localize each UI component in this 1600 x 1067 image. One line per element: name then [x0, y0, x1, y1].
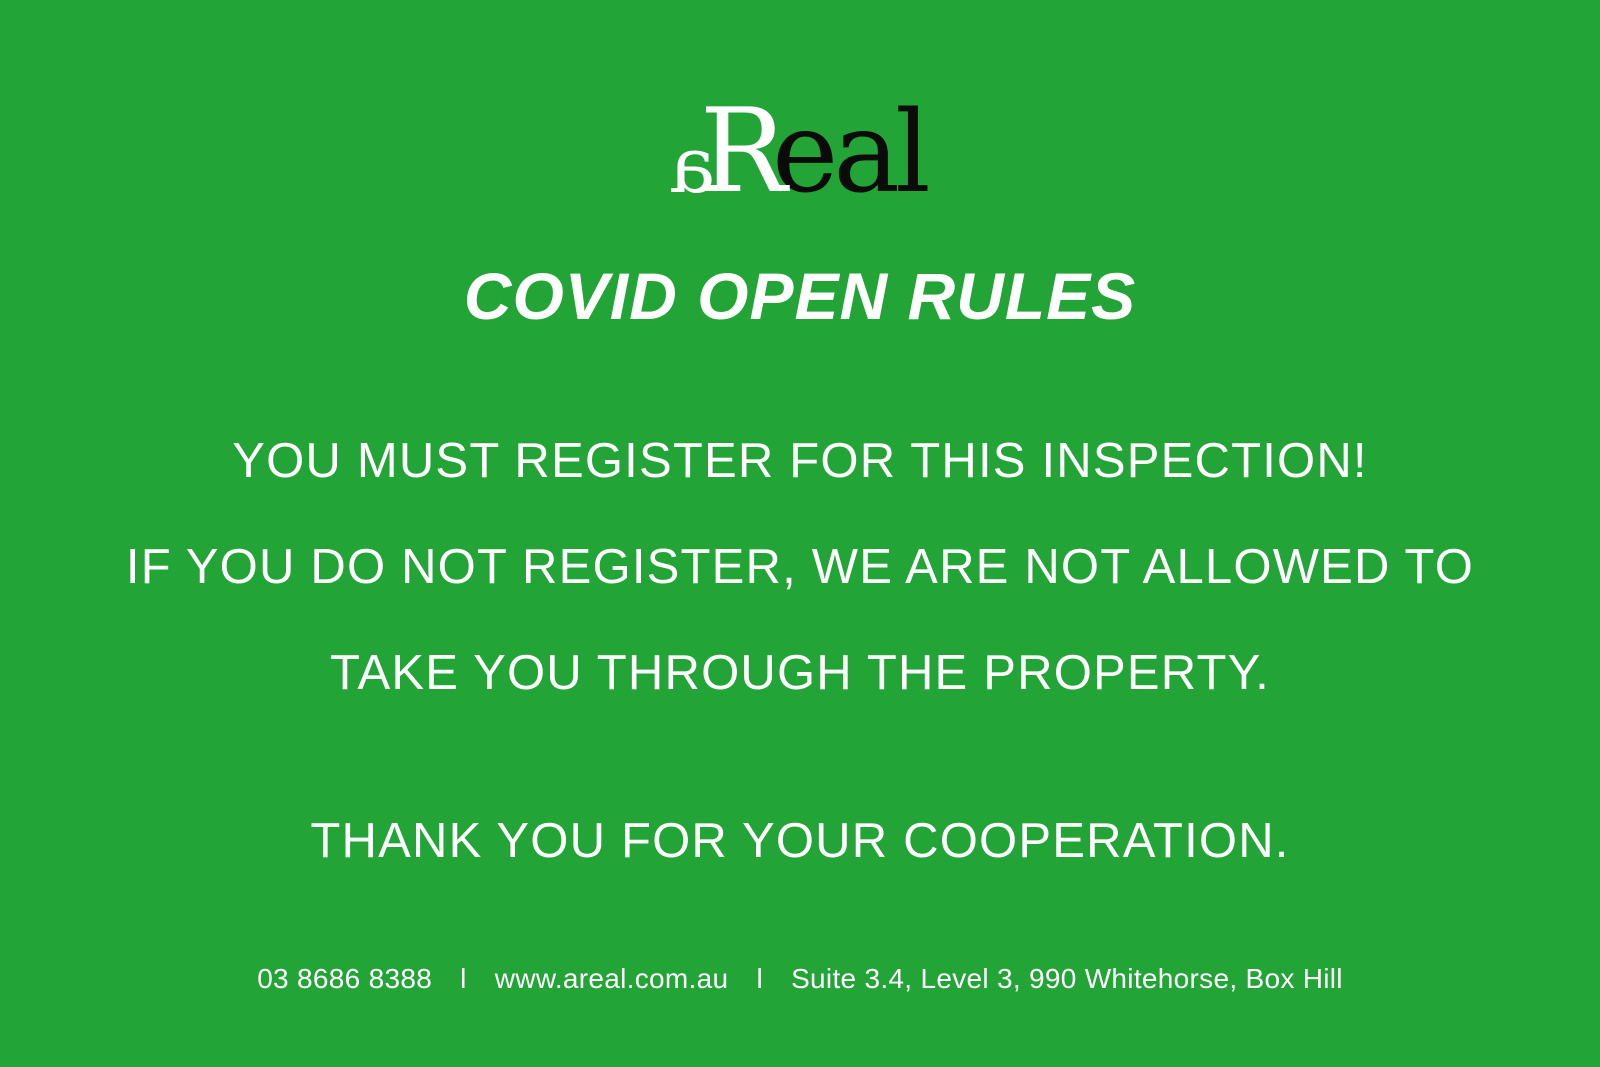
body-line-3: TAKE YOU THROUGH THE PROPERTY. [0, 620, 1600, 726]
areal-wordmark: aReal [674, 99, 926, 206]
logo-ar-ligature: aR [674, 99, 782, 206]
body-line-1: YOU MUST REGISTER FOR THIS INSPECTION! [0, 408, 1600, 514]
body-line-2: IF YOU DO NOT REGISTER, WE ARE NOT ALLOW… [0, 514, 1600, 620]
footer-address: Suite 3.4, Level 3, 990 Whitehorse, Box … [791, 963, 1343, 995]
body-line-4: THANK YOU FOR YOUR COOPERATION. [0, 788, 1600, 894]
brand-logo: aReal [0, 66, 1600, 206]
covid-open-rules-poster: aReal COVID OPEN RULES YOU MUST REGISTER… [0, 0, 1600, 1067]
logo-letters-eal: eal [772, 102, 926, 205]
footer-separator-2: l [736, 963, 783, 995]
footer-website[interactable]: www.areal.com.au [495, 963, 729, 995]
footer-phone: 03 8686 8388 [257, 963, 432, 995]
page-title: COVID OPEN RULES [0, 262, 1600, 331]
contact-footer: 03 8686 8388 l www.areal.com.au l Suite … [0, 963, 1600, 995]
footer-separator-1: l [440, 963, 487, 995]
body-copy: YOU MUST REGISTER FOR THIS INSPECTION! I… [0, 408, 1600, 894]
logo-letter-a: a [674, 131, 716, 203]
